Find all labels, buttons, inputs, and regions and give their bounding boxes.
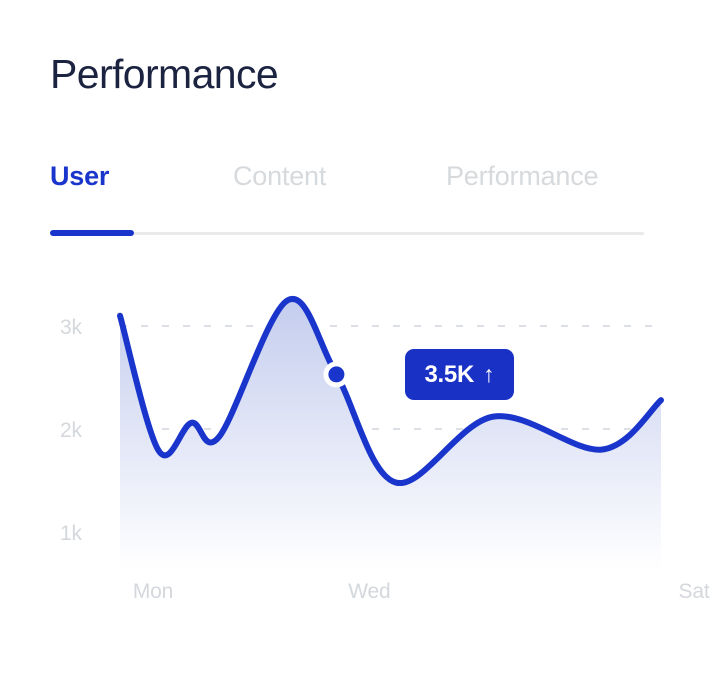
y-axis-tick-label: 3k [60,316,82,339]
chart-y-axis-labels: 3k2k1k [60,316,82,545]
marker-dot[interactable] [328,366,344,382]
user-area-chart[interactable]: 3k2k1k MonWedSat [0,280,717,610]
tab-content[interactable]: Content [233,158,326,194]
performance-card: Performance User Content Performance 3k2… [0,0,717,673]
tab-bar: User Content Performance [50,158,650,238]
page-title: Performance [50,50,278,99]
tooltip-value: 3.5K [425,363,475,387]
y-axis-tick-label: 2k [60,419,82,442]
tab-performance[interactable]: Performance [446,158,598,194]
x-axis-tick-label: Mon [133,580,173,603]
x-axis-tick-label: Sat [679,580,710,603]
chart-x-axis-labels: MonWedSat [133,580,710,603]
y-axis-tick-label: 1k [60,522,82,545]
tab-user[interactable]: User [50,158,109,194]
x-axis-tick-label: Wed [348,580,390,603]
tab-active-indicator [50,230,134,236]
tab-rail [50,232,644,235]
chart-tooltip[interactable]: 3.5K ↑ [405,349,514,400]
chart-highlight-marker[interactable] [323,361,349,387]
chart-svg: 3k2k1k MonWedSat [0,280,717,610]
trend-up-icon: ↑ [483,363,495,386]
